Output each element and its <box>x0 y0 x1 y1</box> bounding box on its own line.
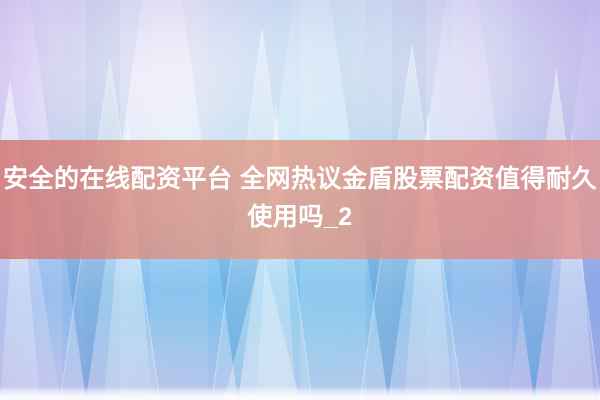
banner-image: 安全的在线配资平台 全网热议金盾股票配资值得耐久使用吗_2 <box>0 0 600 400</box>
bottom-white-strip <box>0 386 600 400</box>
banner-title: 安全的在线配资平台 全网热议金盾股票配资值得耐久使用吗_2 <box>0 160 600 236</box>
